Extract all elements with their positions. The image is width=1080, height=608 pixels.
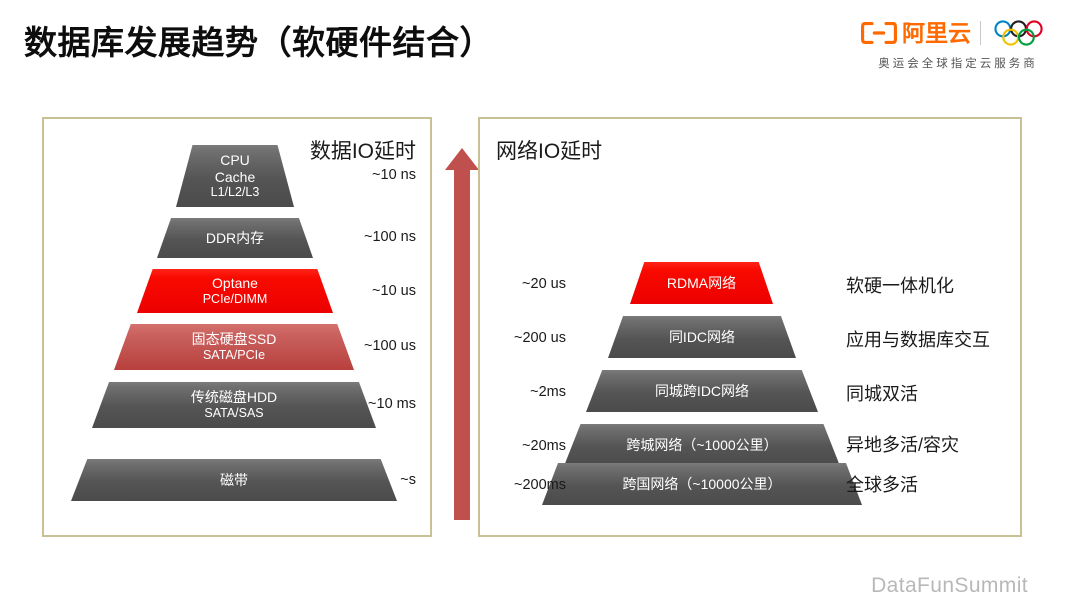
layer-label-line1: 传统磁盘HDD <box>191 389 277 406</box>
network-layer-cross-country[interactable]: 跨国网络（~10000公里） <box>542 463 862 505</box>
network-layer-cross-idc-same-city[interactable]: 同城跨IDC网络 <box>586 370 818 412</box>
layer-label-line1: CPU <box>220 152 250 169</box>
slide-canvas: 数据库发展趋势（软硬件结合） 阿里云 奥运会全球指定云服务商 <box>0 0 1080 608</box>
latency-label-ssd: ~100 us <box>364 338 416 354</box>
annotation-cross-city: 异地多活/容灾 <box>846 431 959 457</box>
page-title: 数据库发展趋势（软硬件结合） <box>24 16 493 64</box>
network-io-latency-heading: 网络IO延时 <box>496 135 602 165</box>
layer-label: 跨国网络（~10000公里） <box>622 476 781 493</box>
brand-name: 阿里云 <box>902 22 971 45</box>
pyramid-layer-hdd[interactable]: 传统磁盘HDD SATA/SAS <box>92 382 376 428</box>
brand-logo-block: 阿里云 奥运会全球指定云服务商 <box>849 16 1064 78</box>
annotation-cross-country: 全球多活 <box>846 471 918 497</box>
layer-label-line2: Cache <box>215 169 255 186</box>
up-arrow-icon <box>445 148 479 520</box>
brand-tagline: 奥运会全球指定云服务商 <box>849 55 1064 71</box>
latency-label-ddr-memory: ~100 ns <box>364 229 416 245</box>
brand-divider <box>980 21 981 45</box>
layer-label-line1: 磁带 <box>220 472 248 489</box>
alibaba-cloud-mark-icon <box>861 21 897 45</box>
latency-label-tape: ~s <box>400 472 416 488</box>
layer-label-line1: DDR内存 <box>206 230 264 247</box>
data-io-latency-heading: 数据IO延时 <box>310 135 416 165</box>
network-layer-cross-city[interactable]: 跨城网络（~1000公里） <box>564 424 840 466</box>
layer-label-line2: SATA/PCIe <box>203 348 265 363</box>
layer-label-line1: 固态硬盘SSD <box>192 331 277 348</box>
layer-label-line1: Optane <box>212 275 258 292</box>
latency-label-cross-city: ~20ms <box>486 438 566 454</box>
latency-label-optane: ~10 us <box>372 283 416 299</box>
annotation-rdma: 软硬一体机化 <box>846 272 954 298</box>
pyramid-layer-tape[interactable]: 磁带 <box>71 459 397 501</box>
alibaba-cloud-logo-icon: 阿里云 <box>861 21 971 45</box>
latency-label-same-idc: ~200 us <box>486 330 566 346</box>
olympic-rings-icon <box>990 19 1052 47</box>
layer-label: RDMA网络 <box>667 275 736 292</box>
annotation-cross-idc-same-city: 同城双活 <box>846 380 918 406</box>
footer-watermark: DataFunSummit <box>871 574 1028 598</box>
layer-label: 同城跨IDC网络 <box>655 383 749 400</box>
layer-label-line2: SATA/SAS <box>204 406 263 421</box>
latency-label-hdd: ~10 ms <box>368 396 416 412</box>
layer-label-line3: L1/L2/L3 <box>211 185 260 200</box>
layer-label: 同IDC网络 <box>669 329 735 346</box>
network-io-latency-panel: 网络IO延时 RDMA网络 同IDC网络 同城跨IDC网络 跨城网络（~1000… <box>478 117 1022 537</box>
layer-label: 跨城网络（~1000公里） <box>626 437 777 454</box>
latency-label-cpu-cache: ~10 ns <box>372 167 416 183</box>
latency-label-rdma: ~20 us <box>486 276 566 292</box>
annotation-same-idc: 应用与数据库交互 <box>846 326 990 352</box>
network-layer-same-idc[interactable]: 同IDC网络 <box>608 316 796 358</box>
network-layer-rdma[interactable]: RDMA网络 <box>630 262 773 304</box>
latency-label-cross-country: ~200ms <box>486 477 566 493</box>
pyramid-layer-cpu-cache[interactable]: CPU Cache L1/L2/L3 <box>176 145 294 207</box>
pyramid-layer-ssd[interactable]: 固态硬盘SSD SATA/PCIe <box>114 324 354 370</box>
pyramid-layer-optane[interactable]: Optane PCIe/DIMM <box>137 269 333 313</box>
layer-label-line2: PCIe/DIMM <box>203 292 268 307</box>
data-io-latency-panel: 数据IO延时 CPU Cache L1/L2/L3 DDR内存 Optane P… <box>42 117 432 537</box>
latency-label-cross-idc-same-city: ~2ms <box>486 384 566 400</box>
pyramid-layer-ddr-memory[interactable]: DDR内存 <box>157 218 313 258</box>
